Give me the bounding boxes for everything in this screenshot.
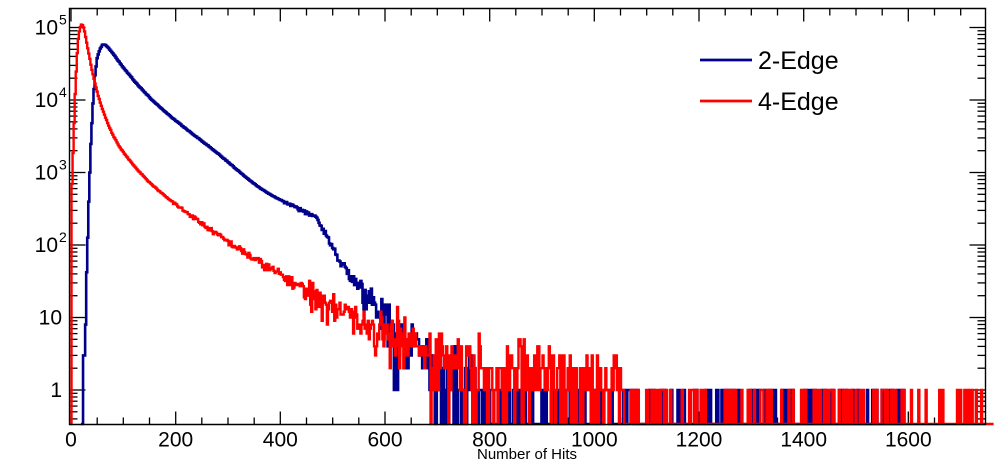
x-tick-label: 1200 [676,429,723,452]
histogram-plot: 110102103104105 020040060080010001200140… [0,0,996,472]
y-tick-label: 10 [35,234,58,257]
x-tick-label: 200 [158,429,193,452]
x-tick-label: 1600 [885,429,932,452]
y-tick-label: 10 [35,17,58,40]
legend-label-4-edge: 4-Edge [758,88,839,116]
y-tick-label: 1 [50,379,62,402]
x-tick-label: 400 [263,429,298,452]
x-tick-label: 600 [367,429,402,452]
y-tick-label: 10 [35,89,58,112]
x-tick-label: 1400 [780,429,827,452]
y-tick-label: 10 [39,307,62,330]
x-axis-title: Number of Hits [477,446,577,463]
legend-label-2-edge: 2-Edge [758,47,839,75]
x-tick-label: 1000 [571,429,618,452]
y-tick-exponent: 5 [59,12,67,28]
y-tick-exponent: 4 [59,84,67,100]
x-tick-label: 0 [65,429,77,452]
y-tick-exponent: 3 [59,157,67,173]
chart-canvas: 110102103104105 020040060080010001200140… [0,0,996,472]
y-tick-exponent: 2 [59,229,67,245]
y-tick-label: 10 [35,162,58,185]
